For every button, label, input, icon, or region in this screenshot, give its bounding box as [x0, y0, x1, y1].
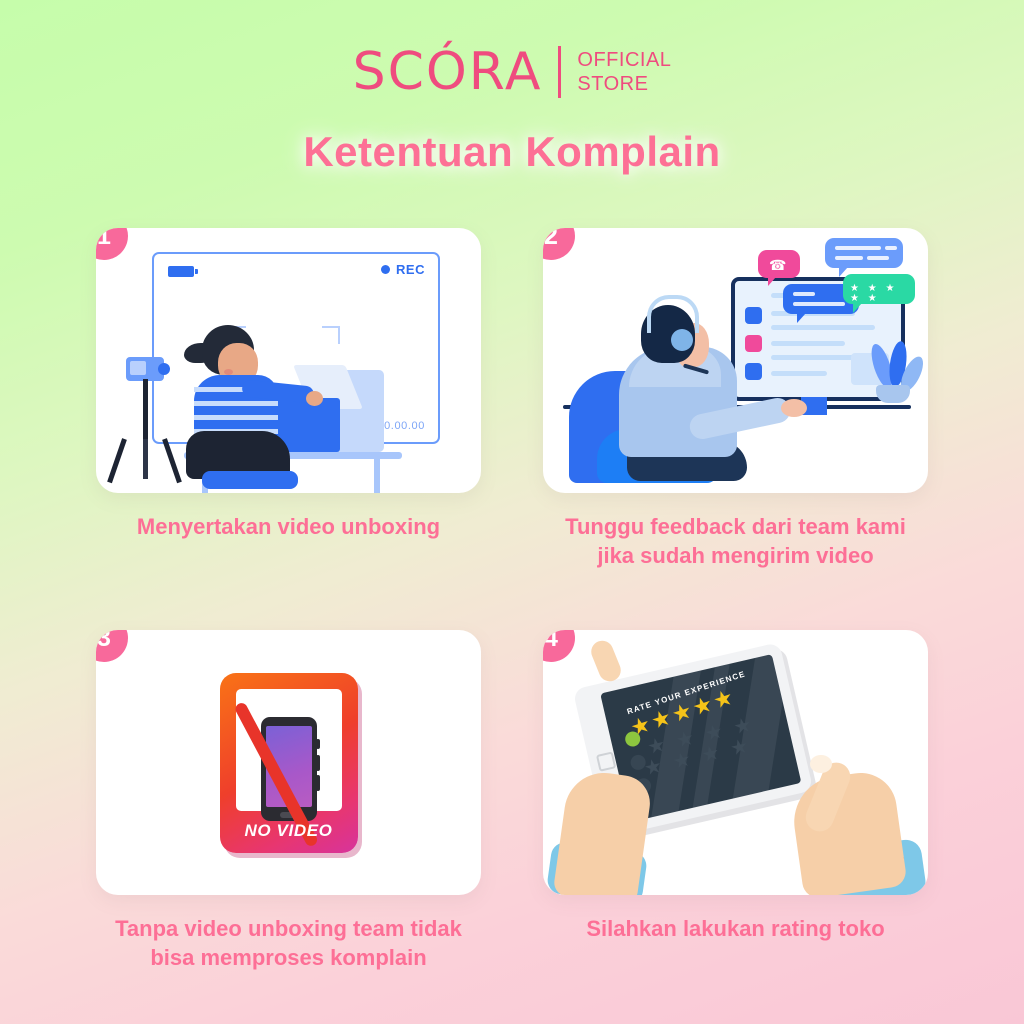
rec-indicator: REC — [381, 262, 425, 277]
contact-avatar-icon — [745, 307, 762, 324]
step-4-number-badge: 4 — [543, 630, 575, 662]
tripod-leg — [143, 439, 148, 479]
text-line — [771, 371, 827, 376]
phone-side-button — [316, 739, 320, 749]
step-1-illustration-card: 1 REC 00.00.00.00 — [96, 228, 481, 493]
promo-graphic: SCÓRA OFFICIAL STORE Ketentuan Komplain … — [0, 0, 1024, 1024]
shirt-stripe — [194, 401, 278, 406]
battery-icon — [168, 266, 194, 277]
five-star-rating-bubble: ★ ★ ★ ★ ★ — [843, 274, 915, 304]
brand-name: SCÓRA — [353, 46, 543, 98]
sign-inner-panel — [236, 689, 342, 811]
headset-earcup-icon — [671, 329, 693, 351]
agent-hand — [781, 399, 807, 417]
phone-icon: ☎ — [769, 258, 786, 272]
camera-screen — [130, 361, 146, 375]
camera-lens-icon — [158, 363, 170, 375]
step-3-number-badge: 3 — [96, 630, 128, 662]
step-3-caption: Tanpa video unboxing team tidak bisa mem… — [96, 914, 481, 972]
step-card-2: 2 — [543, 228, 928, 570]
step-card-1: 1 REC 00.00.00.00 — [96, 228, 481, 570]
step-2-illustration-card: 2 — [543, 228, 928, 493]
brand-logo: SCÓRA OFFICIAL STORE — [0, 46, 1024, 98]
rec-dot-icon — [381, 265, 390, 274]
tripod-leg — [107, 438, 127, 483]
tripod-pole — [143, 379, 148, 443]
rec-label: REC — [396, 262, 425, 277]
step-2-number-badge: 2 — [543, 228, 575, 260]
text-line — [771, 325, 875, 330]
contact-avatar-icon — [745, 363, 762, 380]
step-3-illustration-card: 3 NO VIDEO — [96, 630, 481, 895]
message-bubble — [825, 238, 903, 268]
plant-pot — [876, 385, 910, 403]
no-video-label: NO VIDEO — [220, 821, 358, 841]
step-4-caption: Silahkan lakukan rating toko — [543, 914, 928, 943]
brand-subtitle-line2: STORE — [577, 72, 671, 96]
tripod-leg — [162, 438, 182, 483]
woman-figure — [180, 321, 312, 489]
step-1-caption-line-1: Menyertakan video unboxing — [96, 512, 481, 541]
left-thumb — [588, 637, 624, 684]
steps-grid: 1 REC 00.00.00.00 — [96, 228, 928, 972]
step-2-caption-line-2: jika sudah mengirim video — [543, 541, 928, 570]
phone-side-button — [316, 775, 320, 791]
step-2-caption: Tunggu feedback dari team kami jika suda… — [543, 512, 928, 570]
chair — [202, 471, 298, 489]
step-1-number-badge: 1 — [96, 228, 128, 260]
phone-side-button — [316, 755, 320, 771]
brand-subtitle: OFFICIAL STORE — [577, 48, 671, 96]
contact-avatar-icon — [745, 335, 762, 352]
headset-band-icon — [647, 295, 699, 333]
steps-row-1: 1 REC 00.00.00.00 — [96, 228, 928, 570]
steps-row-2: 3 NO VIDEO — [96, 630, 928, 972]
text-line — [771, 341, 845, 346]
no-video-sign: NO VIDEO — [220, 673, 358, 853]
page-title: Ketentuan Komplain — [0, 128, 1024, 176]
brand-divider — [558, 46, 561, 98]
phone-call-bubble: ☎ — [758, 250, 800, 278]
step-4-caption-line-1: Silahkan lakukan rating toko — [543, 914, 928, 943]
step-4-illustration-card: 4 RATE YOUR EXPERIENCE ★★★★★ ★ ★ ★ ★ ★ ★… — [543, 630, 928, 895]
step-card-4: 4 RATE YOUR EXPERIENCE ★★★★★ ★ ★ ★ ★ ★ ★… — [543, 630, 928, 972]
shirt-stripe — [194, 415, 278, 420]
step-1-caption: Menyertakan video unboxing — [96, 512, 481, 541]
left-hand — [553, 768, 654, 895]
brand-subtitle-line1: OFFICIAL — [577, 48, 671, 72]
camera-tripod-icon — [118, 357, 178, 485]
step-card-3: 3 NO VIDEO — [96, 630, 481, 972]
step-3-caption-line-2: bisa memproses komplain — [96, 943, 481, 972]
hand — [306, 391, 323, 406]
focus-corner-icon — [322, 326, 340, 344]
step-2-caption-line-1: Tunggu feedback dari team kami — [543, 512, 928, 541]
rating-stars-label: ★ ★ ★ ★ ★ — [850, 284, 915, 304]
fingertip-tap-point — [810, 755, 832, 773]
step-3-caption-line-1: Tanpa video unboxing team tidak — [96, 914, 481, 943]
